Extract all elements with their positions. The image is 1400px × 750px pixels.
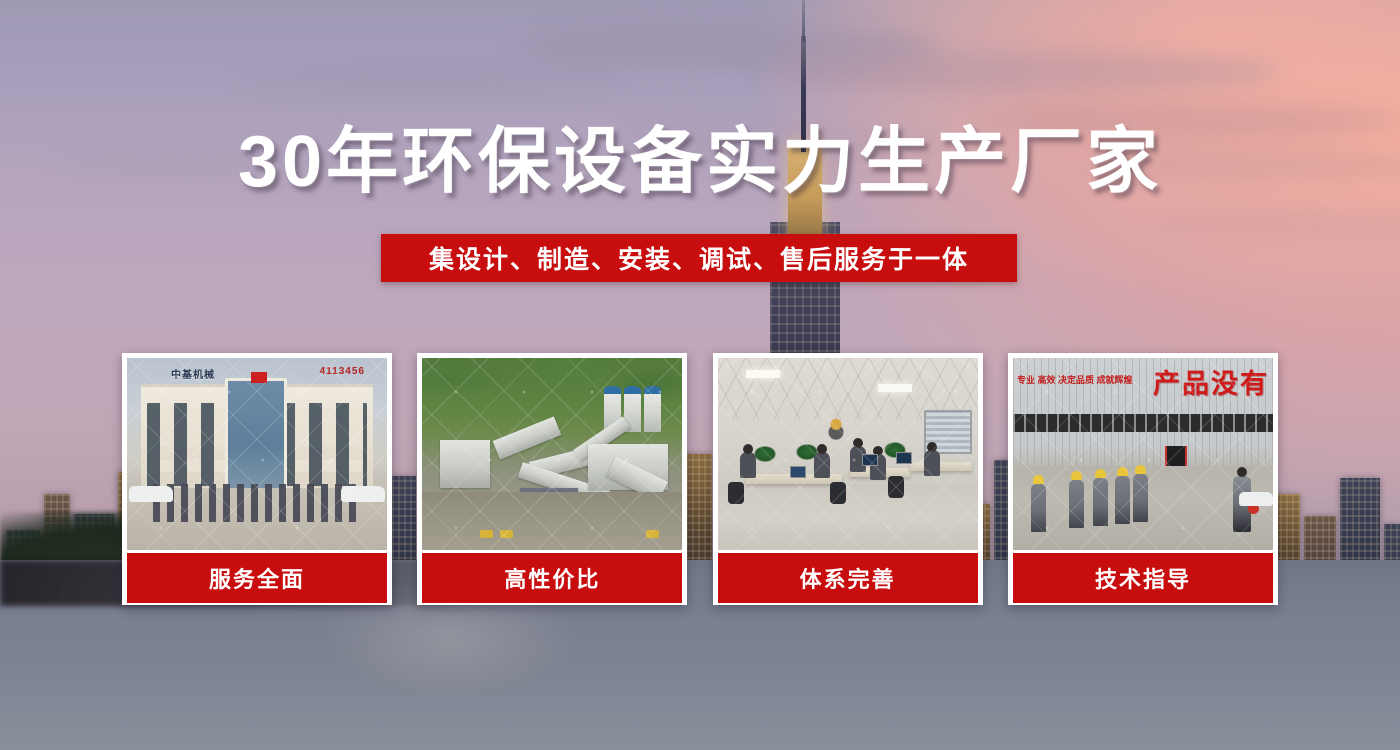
feature-card-label: 体系完善 <box>718 553 978 603</box>
building-phone-text: 4113456 <box>320 366 365 377</box>
factory-wall-slogan: 专业 高效 决定品质 成就辉煌 <box>1017 374 1133 386</box>
feature-card[interactable]: 专业 高效 决定品质 成就辉煌 产品没有 技术指导 <box>1008 353 1278 605</box>
feature-card[interactable]: 体系完善 <box>713 353 983 605</box>
staff-lineup <box>153 484 361 522</box>
parked-car <box>1239 492 1273 506</box>
office-interior-photo <box>718 358 978 550</box>
cloud-streak <box>760 52 1280 92</box>
subtitle-text: 集设计、制造、安装、调试、售后服务于一体 <box>429 240 969 276</box>
page-title: 30年环保设备实力生产厂家 <box>0 126 1400 198</box>
feature-card-label: 技术指导 <box>1013 553 1273 603</box>
cloud-streak <box>240 62 620 92</box>
wall-decoration <box>822 414 850 440</box>
feature-card-label: 高性价比 <box>422 553 682 603</box>
feature-card[interactable]: 高性价比 <box>417 353 687 605</box>
building-sign-text: 中基机械 <box>171 366 215 381</box>
cloud-streak <box>520 24 940 70</box>
flag-icon <box>251 372 267 383</box>
subtitle-banner: 集设计、制造、安装、调试、售后服务于一体 <box>381 234 1017 282</box>
workshop-team-photo: 专业 高效 决定品质 成就辉煌 产品没有 <box>1013 358 1273 550</box>
factory-wall-text: 产品没有 <box>1153 362 1269 401</box>
parked-car <box>129 486 173 502</box>
feature-card-row: 中基机械 4113456 服务全面 <box>122 353 1278 605</box>
tower-spire-tip <box>802 0 805 42</box>
production-plant-aerial-photo <box>422 358 682 550</box>
company-headquarters-photo: 中基机械 4113456 <box>127 358 387 550</box>
promo-banner: 30年环保设备实力生产厂家 集设计、制造、安装、调试、售后服务于一体 中基机械 … <box>0 0 1400 750</box>
feature-card[interactable]: 中基机械 4113456 服务全面 <box>122 353 392 605</box>
parked-car <box>341 486 385 502</box>
feature-card-label: 服务全面 <box>127 553 387 603</box>
